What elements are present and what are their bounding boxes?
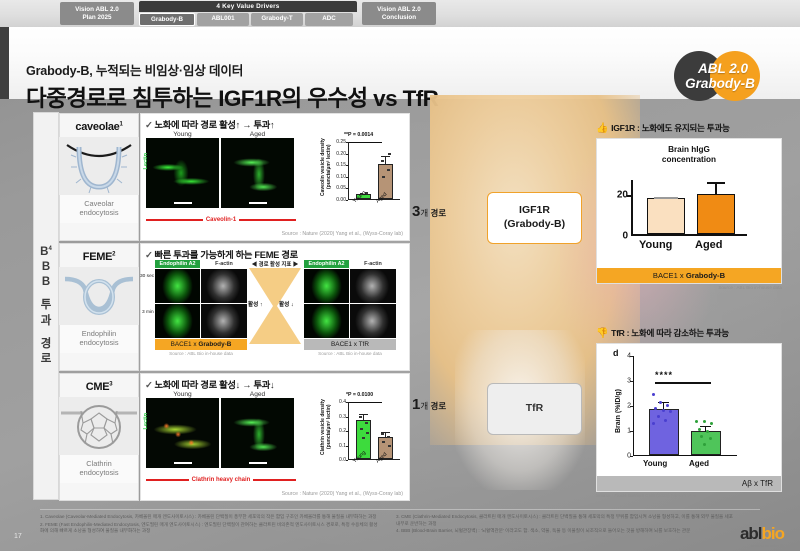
right-panel-igf1r: 👍 IGF1R : 노화에도 유지되는 투과능 Brain hIgGconcen… — [596, 122, 782, 291]
panel-3-label-young: Young — [146, 391, 219, 398]
panel-2-time-3min: 3 min — [142, 310, 154, 315]
right-panel-1-source: Source : ABL Bio in-house data — [596, 284, 782, 291]
panel-2-time-30sec: 30 sec — [140, 274, 154, 279]
chart-higg-tick-0: 0 — [622, 230, 631, 241]
micrograph-endophilin-tfr-2 — [304, 304, 349, 338]
vertical-label-line-5: 경 — [41, 338, 52, 351]
nav-group-key-value-drivers: 4 Key Value Drivers Grabody-B ABL001 Gra… — [139, 1, 357, 26]
right-panel-1-footer-plain: BACE1 x — [653, 271, 686, 280]
chart-higg-xlabel-young: Young — [639, 239, 672, 251]
micrograph-factin-3min — [201, 304, 247, 338]
thumbs-down-icon: 👎 — [596, 328, 608, 339]
micrograph-aged-caveolae — [221, 138, 294, 208]
clathrin-icon — [59, 397, 139, 455]
panel-1-heading-text: 노화에 따라 경로 활성↑ → 투과↑ — [155, 120, 275, 130]
right-panel-1-footer: BACE1 x Grabody-B — [597, 268, 781, 283]
footnote-column-2: 3. CME (Clathrin-Mediated Endocytosis, 클… — [396, 514, 736, 536]
panel-2-center-label: ◀ 경로 활성 지표 ▶ — [247, 260, 303, 268]
panel-2-activity-up: 활성 ↑ — [248, 300, 263, 308]
endocytosis-sup-2: 3 — [109, 381, 112, 387]
nav-item-vision-plan[interactable]: Vision ABL 2.0 Plan 2025 — [60, 2, 134, 25]
logo-line-1: ABL 2.0 — [680, 61, 766, 76]
scale-bar — [249, 462, 267, 464]
panel-2-heading-text: 빠른 투과를 가능하게 하는 FEME 경로 — [155, 250, 298, 260]
scale-bar — [249, 202, 267, 204]
panel-2-label-endophilin-right: Endophilin A2 — [304, 260, 349, 268]
panel-2-footer-left-plain: BACE1 x — [171, 341, 199, 348]
endocytosis-name-1: FEME — [83, 251, 112, 263]
vertical-label-line-6: 로 — [41, 353, 52, 366]
check-icon-3: ✓ — [145, 380, 153, 390]
panel-1-heading: ✓노화에 따라 경로 활성↑ → 투과↑ — [141, 114, 409, 132]
chart-tfr-bar-young — [649, 409, 679, 455]
panel-2-label-factin-left: F-actin — [201, 260, 247, 268]
vertical-label-line-0: B4 — [40, 246, 52, 259]
route-count-1-word: 경로 — [431, 401, 447, 411]
route-box-tfr-line1: TfR — [526, 402, 544, 416]
chart-tfr-xlabel-aged: Aged — [689, 459, 709, 468]
abl-bio-footer-logo: ablbio medicine for better life — [740, 524, 784, 548]
endocytosis-card-cme: CME3 Clathrinendocytosis — [59, 373, 139, 501]
nav-item-vision-conclusion[interactable]: Vision ABL 2.0 Conclusion — [362, 2, 436, 25]
footer-divider — [40, 509, 760, 510]
chart1-pvalue: **P = 0.0014 — [344, 132, 373, 138]
endocytosis-title-caveolae: caveolae1 — [75, 121, 122, 133]
panel-3-heading-text: 노화에 따라 경로 활성↓ → 투과↓ — [155, 380, 275, 390]
chart1-ylabel: Caveolin vesicle density(puncta/µm² lect… — [320, 136, 330, 198]
panel-3-source: Source : Nature (2020) Yang et al., (Wys… — [282, 491, 407, 499]
route-count-3-unit: 개 — [420, 208, 428, 218]
endocytosis-title-cme: CME3 — [86, 381, 113, 393]
panel-2-footer-right: BACE1 x TfR — [304, 339, 396, 350]
micrograph-factin-tfr-1 — [350, 269, 396, 303]
slide: Vision ABL 2.0 Plan 2025 4 Key Value Dri… — [0, 0, 800, 551]
chart-tfr-xlabel-young: Young — [643, 459, 667, 468]
vertical-label-line-4: 과 — [41, 315, 52, 328]
footnote-2: 2. FEME (Fast Endophilin-Mediated Endocy… — [40, 522, 380, 535]
panel-2-label-factin-right: F-actin — [350, 260, 396, 268]
chart-higg-bar-aged — [697, 194, 735, 234]
logo-line-2: Grabody-B — [672, 76, 768, 91]
panel-2-center-indicator: ◀ 경로 활성 지표 ▶ — [247, 260, 303, 268]
chart3-pvalue: *P = 0.0100 — [346, 392, 373, 398]
footnotes: 1. Caveolae (Caveolar-Mediated Endocytos… — [40, 514, 760, 536]
endocytosis-card-feme: FEME2 Endophilinendocytosis — [59, 243, 139, 371]
vertical-label-line-1: B — [42, 261, 50, 274]
chart-tfr-ylabel: Brain (%ID/g) — [615, 374, 625, 448]
endocytosis-sup-1: 2 — [112, 251, 115, 257]
endocytosis-sup-0: 1 — [120, 121, 123, 127]
bbb-route-vertical-label: B4 B B 투 과 경 로 — [33, 112, 59, 500]
thumbs-up-icon: 👍 — [596, 123, 608, 134]
chart-tfr-significance: **** — [655, 370, 673, 380]
abl-grabody-b-logo: ABL 2.0 Grabody-B — [666, 47, 784, 105]
route-count-3-word: 경로 — [431, 208, 447, 218]
panel-3-band-label: Clathrin heavy chain — [146, 477, 296, 483]
chart3-ylabel: Clathrin vesicle density(puncta/µm² lect… — [320, 396, 330, 458]
route-count-3: 3개 경로 — [412, 203, 446, 220]
route-box-igf1r[interactable]: IGF1R (Grabody-B) — [487, 192, 582, 244]
panel-2-footer-left-bold: Grabody-B — [198, 341, 231, 348]
experiment-panel-clathrin: ✓노화에 따라 경로 활성↓ → 투과↓ Young Aged — [140, 373, 410, 501]
chart-tfr-bar-aged — [691, 431, 721, 455]
endocytosis-name-0: caveolae — [75, 121, 119, 133]
footnote-4: 4. BBB (Blood-Brain Barrier, 뇌혈관장벽) : '뇌… — [396, 528, 736, 535]
footnote-1: 1. Caveolae (Caveolar-Mediated Endocytos… — [40, 514, 380, 521]
endocytosis-caption-endophilin: Endophilinendocytosis — [60, 325, 138, 353]
header-accent-bar — [0, 27, 9, 99]
page-subtitle: Grabody-B, 누적되는 비임상·임상 데이터 — [26, 60, 243, 79]
chart-brain-higg-concentration: 20 0 Young Aged — [607, 172, 771, 268]
micrograph-factin-tfr-2 — [350, 304, 396, 338]
nav-center-title: 4 Key Value Drivers — [139, 1, 357, 12]
route-count-1: 1개 경로 — [412, 396, 446, 413]
panel-1-band-text: Caveolin-1 — [206, 217, 236, 223]
panel-1-side-label: Lectin — [143, 153, 149, 169]
vertical-label-line-2: B — [42, 276, 50, 289]
endocytosis-title-feme: FEME2 — [83, 251, 115, 263]
nav-right-line2: Conclusion — [362, 14, 436, 22]
experiment-panel-caveolae: ✓노화에 따라 경로 활성↑ → 투과↑ Young Aged — [140, 113, 410, 241]
micrograph-young-clathrin — [146, 398, 219, 468]
nav-left-line1: Vision ABL 2.0 — [60, 6, 134, 14]
panel-2-footer-left: BACE1 x Grabody-B — [155, 339, 247, 350]
vertical-label-sup: 4 — [48, 246, 51, 252]
caveolae-icon — [59, 137, 139, 195]
nav-left-line2: Plan 2025 — [60, 14, 134, 22]
nav-subtab-grabody-b[interactable]: Grabody-B — [139, 13, 195, 26]
right-panel-2-card: d Brain (%ID/g) 0 1 2 3 4 **** — [596, 343, 782, 492]
feme-icon — [59, 267, 139, 325]
endocytosis-name-2: CME — [86, 381, 110, 393]
right-panel-2-heading: 👎 TfR : 노화에 따라 감소하는 투과능 — [596, 327, 782, 339]
panel-1-band-label: Caveolin-1 — [146, 217, 296, 223]
footnote-3: 3. CME (Clathrin-Mediated Endocytosis, 클… — [396, 514, 736, 527]
page-title: 다중경로로 침투하는 IGF1R의 우수성 vs TfR — [26, 81, 438, 113]
vertical-label-line-3: 투 — [41, 299, 52, 312]
nav-right-line1: Vision ABL 2.0 — [362, 6, 436, 14]
chart-clathrin-density: Clathrin vesicle density(puncta/µm² lect… — [326, 394, 404, 476]
slide-header: Grabody-B, 누적되는 비임상·임상 데이터 다중경로로 침투하는 IG… — [0, 27, 800, 99]
panel-1-source: Source : Nature (2020) Yang et al., (Wys… — [282, 231, 407, 239]
route-box-tfr[interactable]: TfR — [487, 383, 582, 435]
panel-3-heading: ✓노화에 따라 경로 활성↓ → 투과↓ — [141, 374, 409, 392]
micrograph-endophilin-tfr-1 — [304, 269, 349, 303]
right-panel-1-heading-text: IGF1R : 노화에도 유지되는 투과능 — [611, 122, 729, 134]
chart-caveolin-density: Caveolin vesicle density(puncta/µm² lect… — [326, 134, 404, 216]
scale-bar — [174, 202, 192, 204]
endocytosis-card-caveolae: caveolae1 Caveolarendocytosis — [59, 113, 139, 241]
endocytosis-caption-caveolar: Caveolarendocytosis — [60, 195, 138, 223]
nav-subtab-adc[interactable]: ADC — [305, 13, 353, 26]
footer-logo-bio: bio — [762, 524, 785, 543]
right-panel-2-source: Source : Fluids Barriers CNS (2023) Fare… — [596, 492, 782, 499]
top-navigation: Vision ABL 2.0 Plan 2025 4 Key Value Dri… — [0, 0, 800, 27]
page-number: 17 — [14, 533, 22, 540]
caveolae-icon-svg — [59, 137, 139, 195]
panel-3-label-aged: Aged — [221, 391, 294, 398]
right-panel-1-heading: 👍 IGF1R : 노화에도 유지되는 투과능 — [596, 122, 782, 134]
chart-brain-higg-title: Brain hIgGconcentration — [597, 139, 781, 166]
route-box-igf1r-line2: (Grabody-B) — [504, 218, 565, 232]
panel-1-label-aged: Aged — [221, 131, 294, 138]
footer-logo-abl: abl — [740, 524, 762, 543]
micrograph-young-caveolae — [146, 138, 219, 208]
chart-higg-bar-young — [647, 198, 685, 234]
right-panel-2-footer: Aβ x TfR — [597, 476, 781, 491]
check-icon-2: ✓ — [145, 250, 153, 260]
endocytosis-caption-clathrin: Clathrinendocytosis — [60, 455, 138, 483]
micrograph-endophilin-30sec — [155, 269, 200, 303]
panel-2-label-endophilin-left: Endophilin A2 — [155, 260, 200, 268]
chart-tfr-panel-letter: d — [613, 348, 619, 358]
micrograph-aged-clathrin — [221, 398, 294, 468]
panel-1-label-young: Young — [146, 131, 219, 138]
chart-brain-percent-id-per-g: d Brain (%ID/g) 0 1 2 3 4 **** — [609, 348, 769, 476]
nav-subtab-grabody-t[interactable]: Grabody-T — [251, 13, 303, 26]
scale-bar — [174, 462, 192, 464]
panel-3-band-text: Clathrin heavy chain — [192, 477, 251, 483]
route-box-igf1r-line1: IGF1R — [519, 204, 550, 218]
panel-3-side-label: Lectin — [143, 413, 149, 429]
panel-2-source-right: Source : ABL Bio in-house data — [304, 350, 396, 357]
nav-subtab-abl001[interactable]: ABL001 — [197, 13, 249, 26]
nav-subtabs: Grabody-B ABL001 Grabody-T ADC — [139, 13, 357, 26]
right-panel-1-footer-bold: Grabody-B — [686, 271, 725, 280]
footer-logo-tagline: medicine for better life — [740, 544, 784, 548]
micrograph-factin-30sec — [201, 269, 247, 303]
footnote-column-1: 1. Caveolae (Caveolar-Mediated Endocytos… — [40, 514, 380, 536]
micrograph-endophilin-3min — [155, 304, 200, 338]
panel-2-source-left: Source : ABL Bio in-house data — [155, 350, 247, 357]
right-panel-2-heading-text: TfR : 노화에 따라 감소하는 투과능 — [611, 327, 729, 339]
chart-higg-xlabel-aged: Aged — [695, 239, 723, 251]
right-panel-1-card: Brain hIgGconcentration 20 0 Young Aged — [596, 138, 782, 284]
panel-2-activity-down: 활성 ↓ — [279, 300, 294, 308]
clathrin-icon-svg — [59, 397, 139, 455]
check-icon-1: ✓ — [145, 120, 153, 130]
right-panel-tfr: 👎 TfR : 노화에 따라 감소하는 투과능 d Brain (%ID/g) … — [596, 327, 782, 499]
experiment-panel-feme: ✓빠른 투과를 가능하게 하는 FEME 경로 Endophilin A2 F-… — [140, 243, 410, 371]
route-count-1-unit: 개 — [420, 401, 428, 411]
feme-icon-svg — [59, 267, 139, 325]
